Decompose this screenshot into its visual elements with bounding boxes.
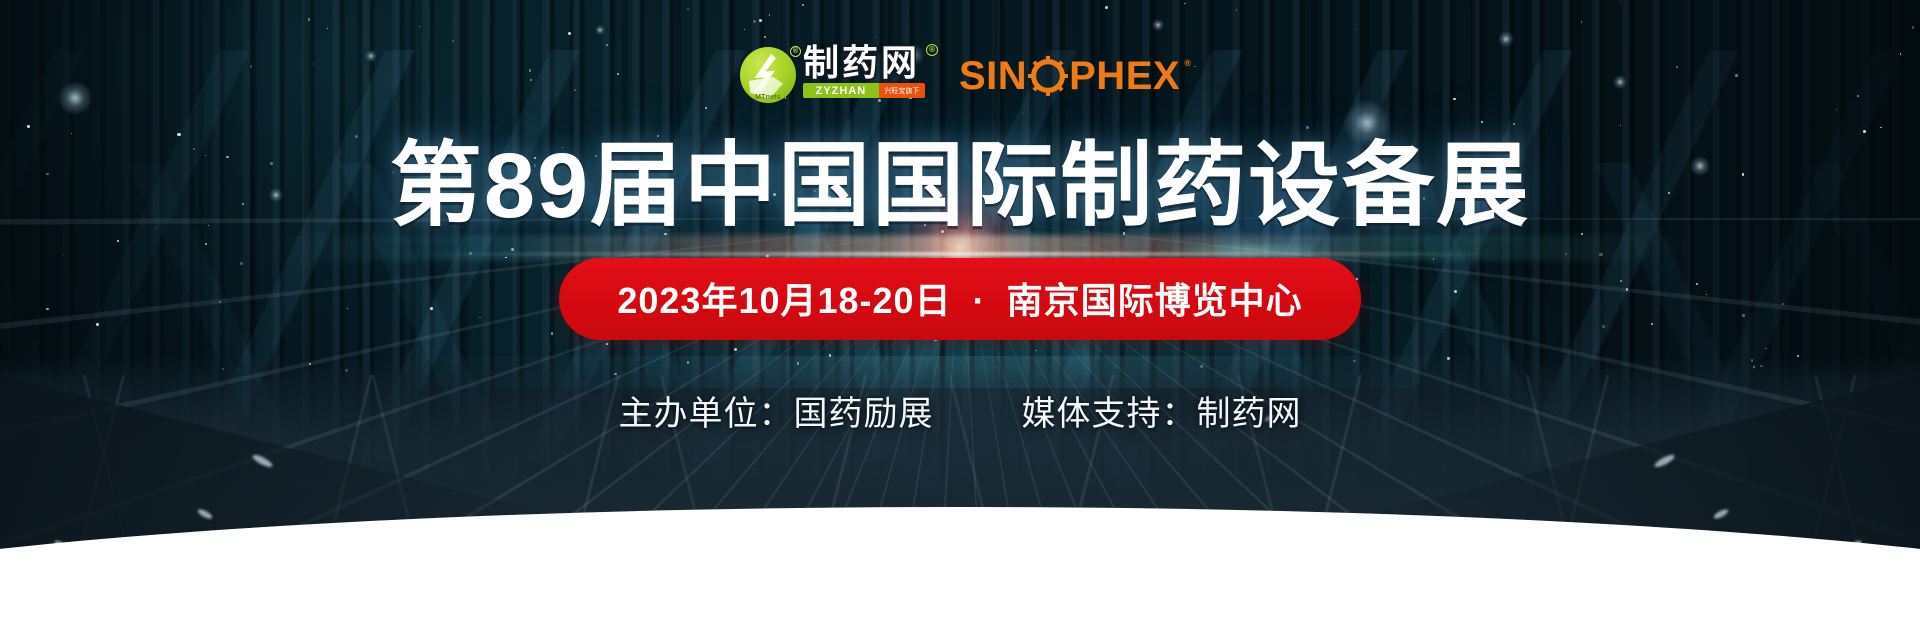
exhibition-banner: MTnets ® 制药网 ® ZYZHAN 兴旺宝旗下 SIN	[0, 0, 1920, 625]
date-venue-badge: 2023年10月18-20日 · 南京国际博览中心	[559, 258, 1360, 340]
sinophex-registered-icon: ®	[1184, 58, 1191, 68]
sinophex-text-part-2: PHEX	[1069, 56, 1180, 96]
zyzhan-band: ZYZHAN 兴旺宝旗下	[803, 83, 925, 98]
zyzhan-band-tag-text: 兴旺宝旗下	[879, 83, 925, 98]
zyzhan-chinese-name: 制药网	[803, 46, 925, 80]
bottom-white-arc	[0, 507, 1920, 625]
zyzhan-band-main-text: ZYZHAN	[803, 83, 879, 98]
zyzhan-registered-icon-2: ®	[926, 44, 938, 56]
credits-row: 主办单位：国药励展 媒体支持：制药网	[619, 386, 1302, 435]
zyzhan-logo[interactable]: MTnets ® 制药网 ® ZYZHAN 兴旺宝旗下	[740, 46, 925, 103]
gear-icon	[1028, 56, 1068, 96]
zyzhan-registered-icon-1: ®	[790, 46, 801, 57]
gear-icon-svg	[1028, 56, 1068, 96]
sinophex-logo[interactable]: SIN	[959, 56, 1180, 96]
page-title: 第89届中国国际制药设备展	[390, 137, 1530, 236]
zyzhan-mtnets-label: MTnets	[755, 94, 781, 101]
event-date: 2023年10月18-20日	[617, 280, 951, 321]
media-support-credit: 媒体支持：制药网	[1022, 386, 1302, 435]
zyzhan-leaf-emblem-icon: MTnets ®	[740, 47, 796, 103]
logo-row: MTnets ® 制药网 ® ZYZHAN 兴旺宝旗下 SIN	[740, 46, 1180, 103]
zyzhan-wordmark-group: 制药网 ® ZYZHAN 兴旺宝旗下	[803, 46, 925, 98]
badge-separator: ·	[963, 280, 996, 321]
bottom-arc-mask	[0, 485, 1920, 625]
organizer-credit: 主办单位：国药励展	[619, 386, 934, 435]
sinophex-wordmark: SIN	[959, 56, 1180, 96]
sinophex-text-part-1: SIN	[959, 56, 1027, 96]
event-venue: 南京国际博览中心	[1007, 280, 1303, 321]
